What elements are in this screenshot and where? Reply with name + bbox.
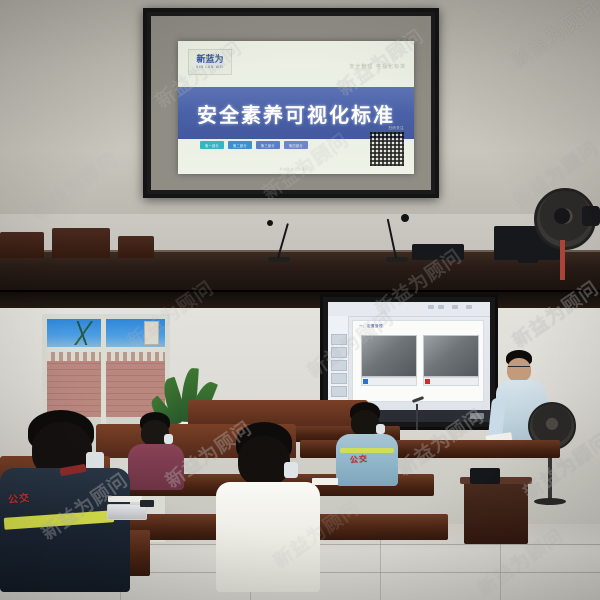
uniform-text: 公交 <box>349 453 368 466</box>
slide-thumbnail <box>331 334 347 345</box>
attendee-head <box>238 436 290 486</box>
screenshot-root: 新蓝为 XIN LAN WEI 安全管理 可视化标准 安全素养可视化标准 第一部… <box>0 0 600 600</box>
face-mask <box>376 424 385 434</box>
top-photo-panel: 新蓝为 XIN LAN WEI 安全管理 可视化标准 安全素养可视化标准 第一部… <box>0 0 600 292</box>
laptop <box>470 468 500 484</box>
fan-motor <box>582 206 600 226</box>
slide-thumbnail <box>331 386 347 397</box>
slide-tab-4: 第四部分 <box>284 141 308 149</box>
face-mask <box>284 462 298 478</box>
slide-tab-3: 第三部分 <box>256 141 280 149</box>
presenter-glasses <box>508 366 530 370</box>
slide-thumbnail-pane <box>328 316 349 408</box>
company-logo: 新蓝为 XIN LAN WEI <box>188 49 232 75</box>
podium <box>464 482 528 544</box>
qr-label: 扫码关注 <box>388 125 404 130</box>
presenter-head <box>507 358 531 382</box>
face-mask <box>164 434 173 444</box>
slide-thumbnail <box>331 347 347 358</box>
bottom-photo-panel: 一、定置管理 <box>0 292 600 600</box>
paper-sheet <box>312 478 338 485</box>
fan-base <box>534 498 566 505</box>
presentation-slide: 新蓝为 XIN LAN WEI 安全管理 可视化标准 安全素养可视化标准 第一部… <box>178 41 414 174</box>
logo-subtext: XIN LAN WEI <box>196 65 224 70</box>
chair <box>0 232 44 258</box>
projector-screen: 新蓝为 XIN LAN WEI 安全管理 可视化标准 安全素养可视化标准 第一部… <box>143 8 439 198</box>
mic-base <box>386 257 408 262</box>
ceiling-beam <box>0 292 600 308</box>
attendee-torso <box>216 482 320 592</box>
ribbon-button <box>466 305 472 309</box>
comparison-photo-right <box>423 335 479 377</box>
screen-surface: 新蓝为 XIN LAN WEI 安全管理 可视化标准 安全素养可视化标准 第一部… <box>151 16 431 190</box>
slide-thumbnail <box>331 373 347 384</box>
air-conditioner <box>144 321 159 345</box>
uniform-text: 公交 <box>7 489 30 506</box>
slide-subtitle: 安全管理 可视化标准 <box>349 63 406 70</box>
powerpoint-ribbon <box>328 302 490 317</box>
paper-sheet <box>108 496 142 502</box>
fan-hub <box>554 208 570 224</box>
gooseneck-microphone <box>268 218 298 262</box>
mic-neck <box>277 223 289 258</box>
tree-branch <box>61 321 105 345</box>
fan-pole <box>560 240 565 280</box>
remote-control <box>140 500 154 507</box>
mic-stand <box>416 404 418 430</box>
mic-neck <box>387 219 397 259</box>
attendee-front-center <box>216 422 320 592</box>
slide-title: 安全素养可视化标准 <box>197 99 395 128</box>
ppt-slide-title: 一、定置管理 <box>359 324 383 329</box>
slide-tab-2: 第二部分 <box>228 141 252 149</box>
device-box <box>412 244 464 260</box>
gooseneck-microphone <box>386 214 416 262</box>
logo-text: 新蓝为 <box>196 55 223 65</box>
slide-tab-row: 第一部分 第二部分 第三部分 第四部分 <box>200 141 308 149</box>
mic-head <box>401 214 409 222</box>
comparison-photo-left <box>361 335 417 377</box>
taskbar-clock <box>470 413 484 419</box>
ribbon-button <box>452 305 458 309</box>
monitor-base <box>518 258 538 263</box>
attendee-head <box>351 410 379 436</box>
caption-left <box>361 377 417 386</box>
qr-code-icon <box>370 132 404 166</box>
ribbon-button <box>428 305 434 309</box>
pedestal-fan <box>534 188 596 250</box>
attendee-mid-right: 公交 <box>336 402 398 488</box>
attendee-mid-left <box>128 412 184 482</box>
slide-canvas: 一、定置管理 <box>352 320 484 402</box>
caption-marker-right <box>425 379 430 384</box>
chair <box>118 236 154 258</box>
attendee-torso <box>128 444 184 490</box>
caption-right <box>423 377 479 386</box>
window-mullion <box>47 347 165 352</box>
mic-head <box>267 220 273 226</box>
slide-tab-1: 第一部分 <box>200 141 224 149</box>
caption-marker-left <box>363 379 368 384</box>
attendee-torso <box>0 468 130 592</box>
slide-footer: 新益为企业管理顾问 <box>280 167 312 171</box>
slide-thumbnail <box>331 360 347 371</box>
ribbon-button <box>438 305 444 309</box>
chair <box>52 228 110 258</box>
